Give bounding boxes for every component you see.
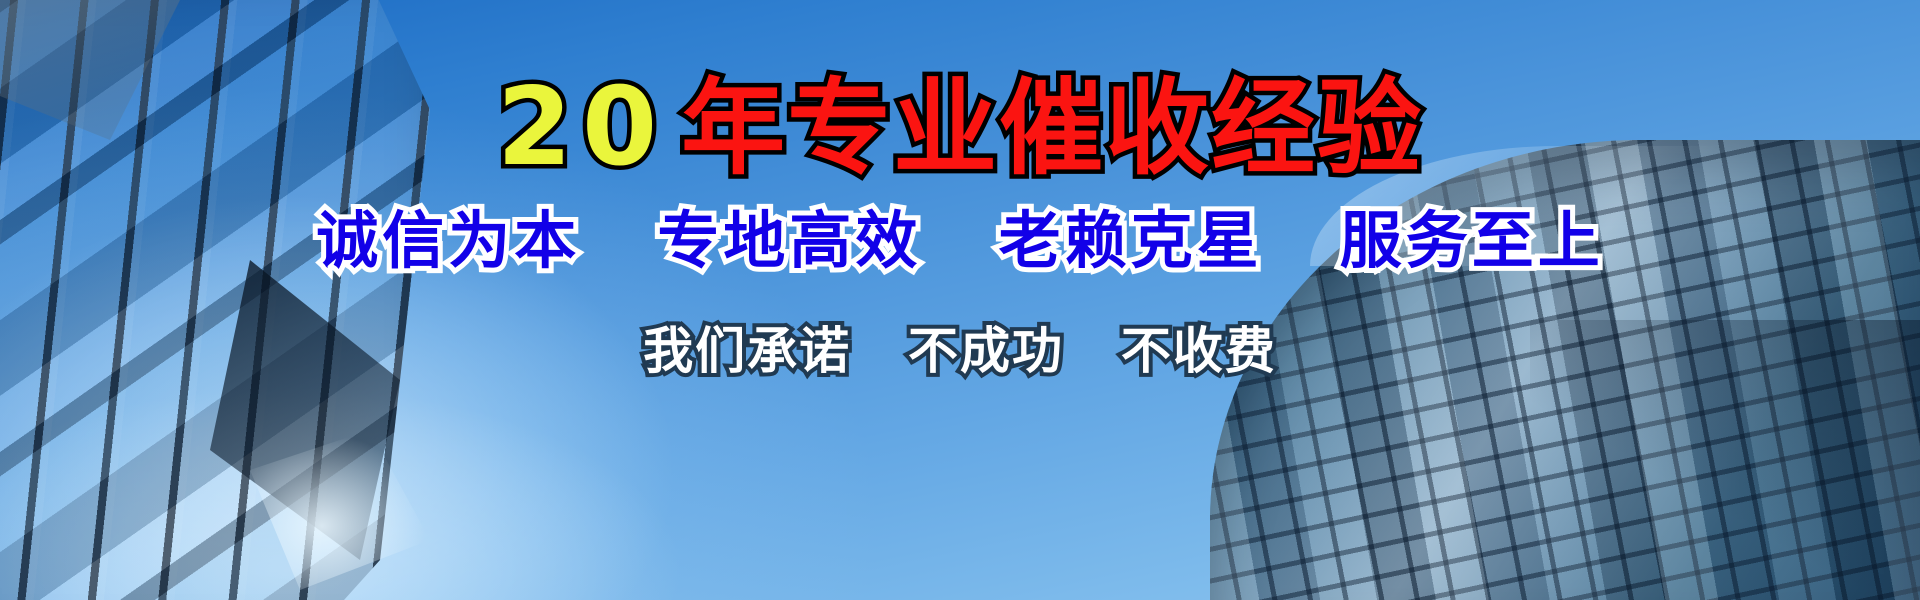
promise-line: 我们承诺 不成功 不收费: [643, 326, 1277, 376]
slogan-line: 诚信为本 专地高效 老赖克星 服务至上: [316, 210, 1604, 272]
slogan-phrase-3: 老赖克星: [999, 204, 1263, 277]
promo-banner: 20 年专业催收经验 诚信为本 专地高效 老赖克星 服务至上 我们承诺 不成功 …: [0, 0, 1920, 600]
slogan-phrase-4: 服务至上: [1340, 204, 1604, 277]
headline: 20 年专业催收经验: [497, 74, 1423, 182]
promise-phrase-1: 我们承诺: [643, 322, 851, 380]
promise-phrase-2: 不成功: [908, 322, 1064, 380]
headline-main-text: 年专业催收经验: [681, 76, 1423, 180]
banner-copy: 20 年专业催收经验 诚信为本 专地高效 老赖克星 服务至上 我们承诺 不成功 …: [0, 0, 1920, 600]
headline-years-number: 20: [497, 74, 667, 182]
promise-phrase-3: 不收费: [1121, 322, 1277, 380]
slogan-phrase-1: 诚信为本: [316, 204, 580, 277]
slogan-phrase-2: 专地高效: [657, 204, 921, 277]
